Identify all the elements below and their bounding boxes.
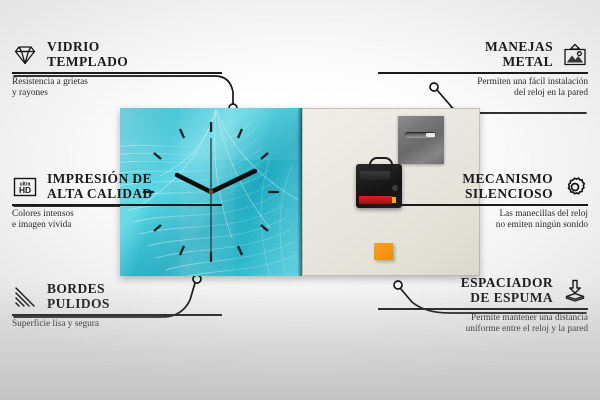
feature-header: VIDRIOTEMPLADO — [12, 40, 222, 69]
foam-spacer-icon — [562, 278, 588, 304]
feature-description: Superficie lisa y segura — [12, 319, 222, 331]
marker-5 — [238, 246, 242, 255]
hanger-keyhole-slot — [405, 132, 436, 138]
marker-7 — [180, 246, 184, 255]
hanging-frame-icon — [562, 42, 588, 68]
feature-espaciador-espuma: ESPACIADORDE ESPUMA Permite mantener una… — [378, 276, 588, 336]
feature-vidrio-templado: VIDRIOTEMPLADO Resistencia a grietasy ra… — [12, 40, 222, 100]
feature-header: MECANISMOSILENCIOSO — [378, 172, 588, 201]
mechanism-hook — [369, 157, 393, 169]
feature-divider — [12, 314, 222, 316]
feature-divider — [378, 72, 588, 74]
gear-icon — [562, 174, 588, 200]
feature-divider — [12, 204, 222, 206]
marker-1 — [238, 129, 242, 138]
diamond-icon — [12, 42, 38, 68]
feature-mecanismo-silencioso: MECANISMOSILENCIOSO Las manecillas del r… — [378, 172, 588, 232]
marker-10 — [154, 153, 161, 159]
feature-manejas-metal: MANEJASMETAL Permiten una fácil instalac… — [378, 40, 588, 100]
metal-hanger-plate — [398, 116, 444, 164]
feature-header: ultra HD IMPRESIÓN DEALTA CALIDAD — [12, 172, 222, 201]
feature-title: ESPACIADORDE ESPUMA — [461, 276, 553, 305]
feature-divider — [378, 204, 588, 206]
svg-text:HD: HD — [19, 185, 31, 195]
feature-description: Colores intensose imagen vívida — [12, 209, 222, 232]
feature-title: BORDESPULIDOS — [47, 282, 110, 311]
feature-header: MANEJASMETAL — [378, 40, 588, 69]
marker-2 — [261, 153, 268, 159]
feature-description: Las manecillas del relojno emiten ningún… — [378, 209, 588, 232]
feature-title: MANEJASMETAL — [485, 40, 553, 69]
polished-edges-icon — [12, 284, 38, 310]
foam-spacer — [374, 243, 393, 260]
feature-impresion-alta-calidad: ultra HD IMPRESIÓN DEALTA CALIDAD Colore… — [12, 172, 222, 232]
marker-4 — [261, 225, 268, 231]
feature-title: VIDRIOTEMPLADO — [47, 40, 128, 69]
feature-description: Permiten una fácil instalacióndel reloj … — [378, 77, 588, 100]
marker-11 — [180, 129, 184, 138]
feature-divider — [12, 72, 222, 74]
feature-description: Resistencia a grietasy rayones — [12, 77, 222, 100]
feature-title: MECANISMOSILENCIOSO — [462, 172, 553, 201]
feature-header: BORDESPULIDOS — [12, 282, 222, 311]
product-infographic: VIDRIOTEMPLADO Resistencia a grietasy ra… — [0, 0, 600, 400]
feature-divider — [378, 308, 588, 310]
ultra-hd-icon: ultra HD — [12, 174, 38, 200]
feature-description: Permite mantener una distanciauniforme e… — [378, 313, 588, 336]
feature-title: IMPRESIÓN DEALTA CALIDAD — [47, 172, 153, 201]
feature-bordes-pulidos: BORDESPULIDOS Superficie lisa y segura — [12, 282, 222, 330]
feature-header: ESPACIADORDE ESPUMA — [378, 276, 588, 305]
